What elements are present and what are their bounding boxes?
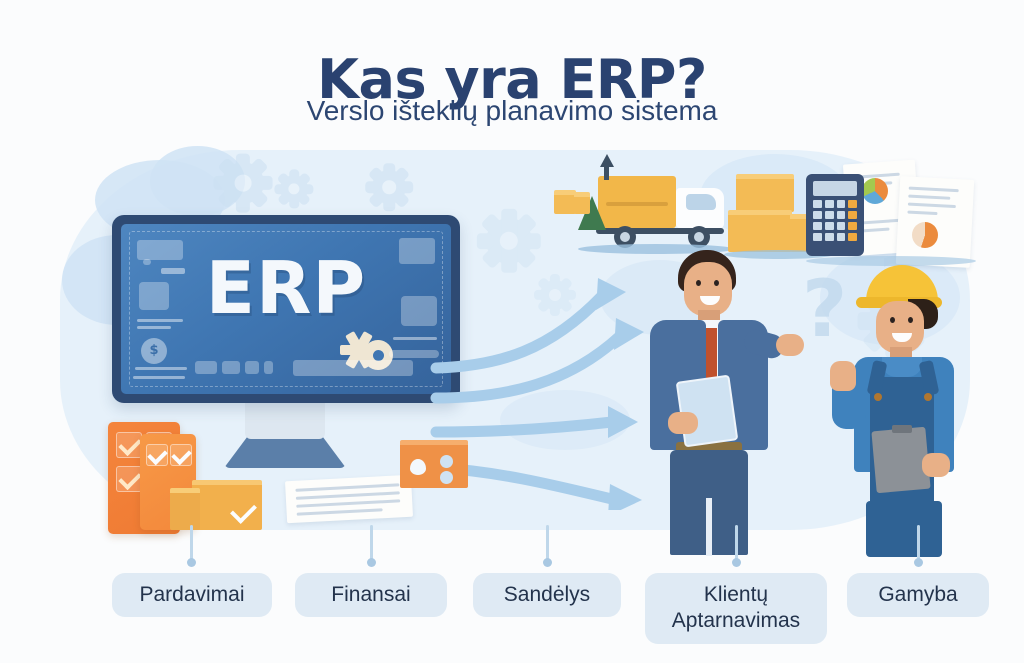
currency-badge: $ (141, 338, 167, 364)
carton-box (728, 210, 792, 252)
small-box (574, 192, 590, 214)
toolbar-button (264, 361, 273, 374)
gear-icon (222, 162, 264, 204)
calculator-display (813, 181, 857, 196)
small-box (554, 190, 576, 214)
toolbar-button (222, 361, 240, 374)
gear-icon (372, 170, 406, 204)
small-carton-box (170, 488, 200, 530)
truck-cargo-stripe (606, 202, 668, 206)
worker-head (876, 301, 924, 353)
worker-eye (908, 317, 913, 323)
checked-carton-box (192, 480, 262, 530)
widget-line (137, 326, 171, 329)
worker-trousers (866, 501, 942, 557)
businessman-hand-open (776, 334, 804, 356)
bubble-dot (440, 471, 453, 484)
illustration-scene: ? ? $ ERP (0, 140, 1024, 560)
module-pill-row: Pardavimai Finansai Sandėlys Klientų Apt… (0, 565, 1024, 660)
businessman-head (684, 262, 732, 316)
module-pill-klientu-aptarnavimas[interactable]: Klientų Aptarnavimas (645, 573, 827, 644)
worker-clipboard-clip (892, 425, 912, 433)
businessman-hand-holding (668, 412, 698, 434)
calculator-keys (813, 200, 857, 241)
pie-chart (912, 222, 938, 248)
report-document (896, 176, 975, 268)
worker-thumbs-up-hand (830, 361, 856, 391)
carton-box (736, 174, 794, 212)
connector-stem (917, 525, 920, 563)
infographic-canvas: Kas yra ERP? Verslo išteklių planavimo s… (0, 0, 1024, 663)
up-arrow-stem (604, 166, 609, 180)
widget-line (135, 367, 187, 370)
connector-stem (546, 525, 549, 563)
heart-icon (410, 459, 426, 475)
module-pill-pardavimai[interactable]: Pardavimai (112, 573, 272, 617)
connector-stem (370, 525, 373, 563)
businessman-tablet (676, 375, 739, 448)
module-pill-gamyba[interactable]: Gamyba (847, 573, 989, 617)
module-pill-sandelys[interactable]: Sandėlys (473, 573, 621, 617)
worker-collar (882, 357, 922, 377)
gear-icon (280, 175, 308, 203)
heart-box (400, 440, 468, 488)
page-subtitle: Verslo išteklių planavimo sistema (0, 95, 1024, 127)
search-field (293, 360, 413, 376)
monitor-stand-neck (245, 403, 325, 439)
worker-hand-holding (922, 453, 950, 477)
businessman (634, 250, 804, 550)
checkmark-icon (230, 497, 257, 524)
worker-overall-button (874, 393, 882, 401)
module-pill-finansai[interactable]: Finansai (295, 573, 447, 617)
pie-chart (862, 178, 888, 204)
connector-stem (735, 525, 738, 563)
construction-worker (830, 265, 990, 555)
toolbar-button (195, 361, 217, 374)
businessman-leg-gap (706, 498, 712, 556)
businessman-eye (714, 280, 719, 286)
bubble-dot (440, 455, 453, 468)
truck-window (686, 194, 716, 210)
calculator (806, 174, 864, 256)
worker-overall-button (924, 393, 932, 401)
monitor-screen: $ ERP (121, 224, 451, 394)
toolbar-button (245, 361, 259, 374)
computer-monitor: $ ERP (112, 215, 460, 403)
widget-line (133, 376, 185, 379)
paper-sheet (285, 475, 413, 524)
businessman-eye (696, 280, 701, 286)
worker-eye (890, 317, 895, 323)
connector-stem (190, 525, 193, 563)
